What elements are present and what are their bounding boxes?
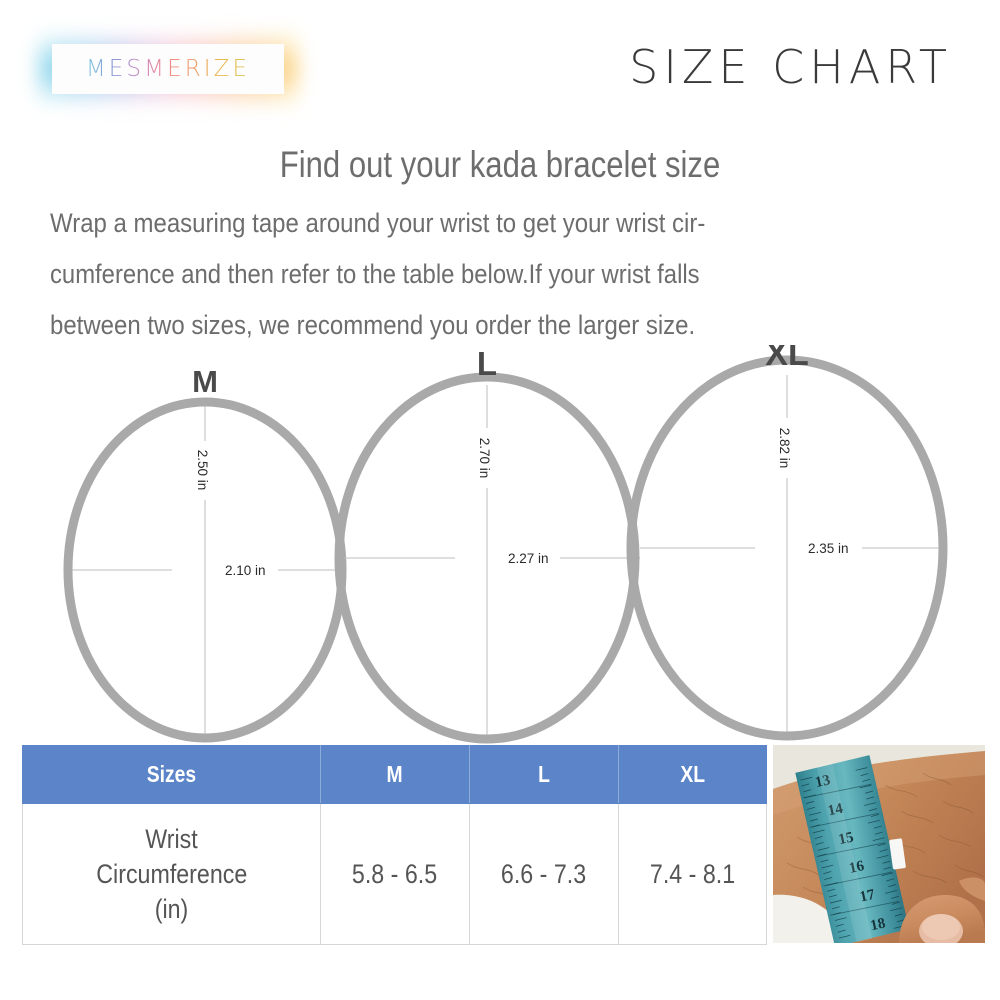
table-row: Wrist Circumference (in) 5.8 - 6.5 6.6 -… [23,804,767,945]
logo-box: MESMERIZE [52,44,284,94]
size-table: Sizes M L XL Wrist Circumference (in) 5.… [22,745,767,945]
oval-width-label-xl: 2.35 in [808,541,849,556]
row-label-wrist-circumference: Wrist Circumference (in) [23,804,321,945]
table-header-sizes: Sizes [23,746,321,804]
section-heading: Find out your kada bracelet size [80,144,920,186]
oval-height-label-xl: 2.82 in [777,428,792,469]
diagram-m: M 2.50 in 2.10 in [68,364,345,738]
intro-line-3: between two sizes, we recommend you orde… [50,300,870,351]
intro-line-1: Wrap a measuring tape around your wrist … [50,198,870,249]
intro-paragraph: Wrap a measuring tape around your wrist … [50,198,956,351]
oval-label-l: L [477,345,497,382]
row-label-line-3: (in) [155,892,189,927]
table-header-xl: XL [619,746,767,804]
size-chart-page: MESMERIZE SIZE CHART Find out your kada … [0,0,1000,1000]
oval-label-xl: XL [765,345,808,373]
oval-height-label-m: 2.50 in [195,450,210,491]
oval-label-m: M [192,364,218,399]
oval-width-label-m: 2.10 in [225,563,266,578]
cell-l-range: 6.6 - 7.3 [470,804,619,945]
bracelet-diagrams: M 2.50 in 2.10 in L 2.70 in 2.27 in [0,345,1000,745]
table-header-row: Sizes M L XL [23,746,767,804]
oval-height-label-l: 2.70 in [477,438,492,479]
diagram-xl: XL 2.82 in 2.35 in [631,345,943,736]
cell-m-range: 5.8 - 6.5 [321,804,470,945]
diagram-l: L 2.70 in 2.27 in [339,345,640,739]
wrist-measurement-photo: 13 14 15 16 17 18 [773,745,985,943]
intro-line-2: cumference and then refer to the table b… [50,249,865,300]
cell-xl-range: 7.4 - 8.1 [619,804,767,945]
oval-width-label-l: 2.27 in [508,551,549,566]
table-header-m: M [321,746,470,804]
page-title: SIZE CHART [629,40,952,94]
row-label-line-2: Circumference [96,857,247,892]
logo-text: MESMERIZE [86,56,250,82]
table-header-l: L [470,746,619,804]
brand-logo: MESMERIZE [52,44,284,94]
row-label-line-1: Wrist [145,822,197,857]
